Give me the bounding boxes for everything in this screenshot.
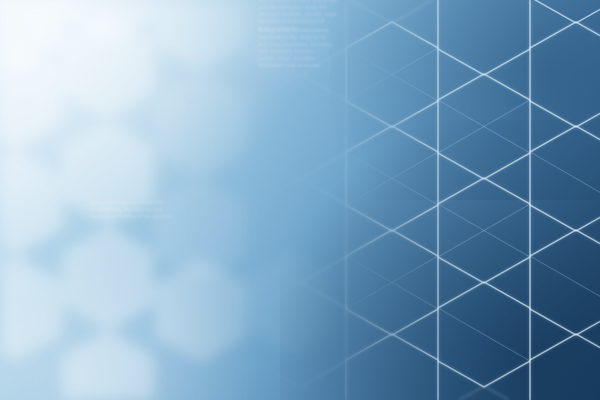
decorative-paragraph-top-2: Biology is the natural science that invo… [258, 28, 376, 70]
presentation-slide: and the many kinds of plants and animals… [0, 0, 600, 400]
decorative-paragraph-mid: modern biology is a broad and by combini… [90, 200, 186, 221]
decorative-paragraph-bottom: Biology is the natural science that invo… [0, 0, 118, 14]
